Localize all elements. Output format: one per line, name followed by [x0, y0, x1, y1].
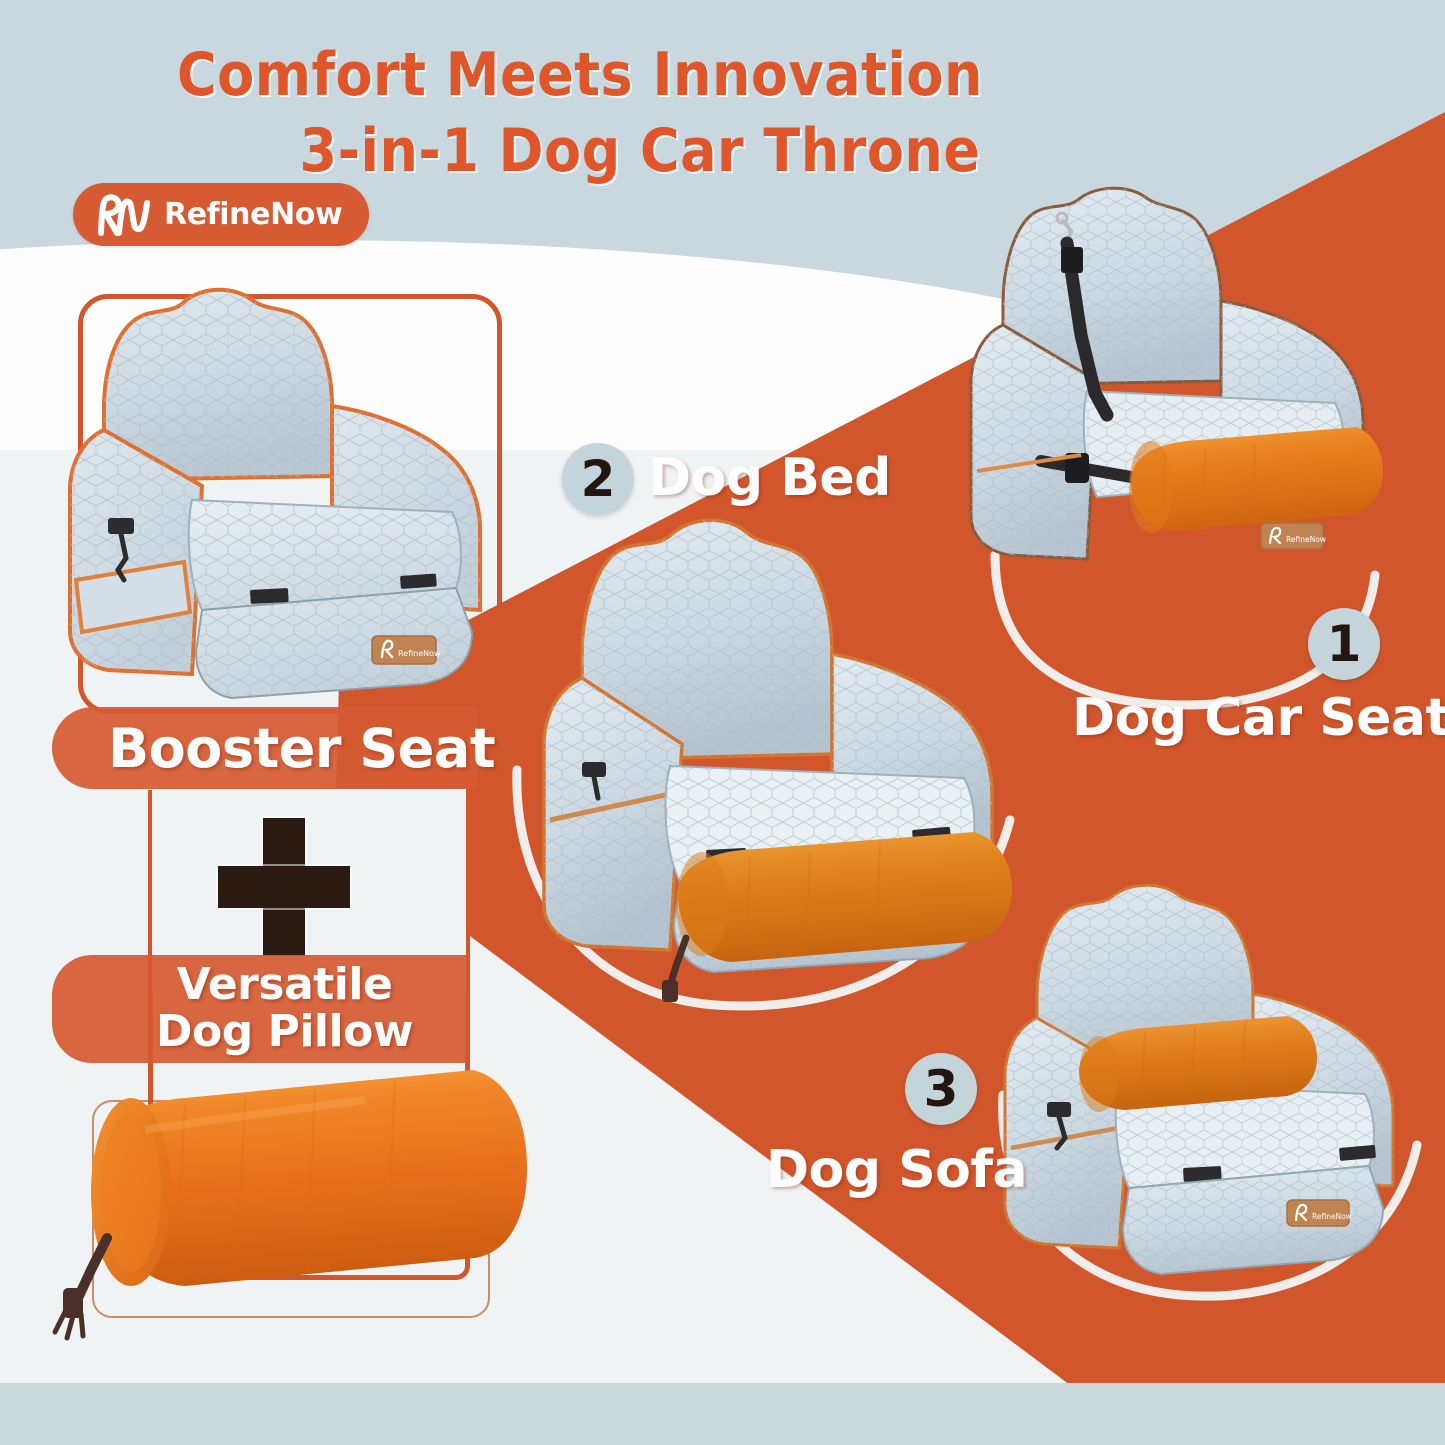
svg-text:RefineNow: RefineNow [1286, 535, 1326, 544]
versatile-dog-pillow-product-photo [35, 1060, 535, 1360]
step-label-dog-bed: Dog Bed [648, 448, 891, 508]
versatile-dog-pillow-banner: Versatile Dog Pillow [52, 955, 467, 1063]
svg-text:RefineNow: RefineNow [398, 649, 441, 658]
step-badge-2: 2 [562, 443, 634, 515]
rn-monogram-icon [95, 193, 161, 237]
step-badge-3: 3 [905, 1053, 977, 1125]
pillow-label-line-2: Dog Pillow [156, 1009, 413, 1056]
background-bottom-strip [0, 1383, 1445, 1445]
booster-seat-product-photo: RefineNow [52, 280, 512, 720]
dog-sofa-product-photo: RefineNow [995, 880, 1425, 1300]
svg-text:RefineNow: RefineNow [1312, 1212, 1352, 1221]
dog-bed-product-photo [520, 518, 1050, 1018]
infographic-canvas: Comfort Meets Innovation 3-in-1 Dog Car … [0, 0, 1445, 1445]
page-title: Comfort Meets Innovation 3-in-1 Dog Car … [0, 38, 1160, 189]
plus-icon [218, 818, 350, 956]
brand-name: RefineNow [164, 197, 342, 232]
title-line-2: 3-in-1 Dog Car Throne [0, 114, 1160, 190]
step-label-dog-car-seat: Dog Car Seat [1072, 688, 1445, 748]
step-label-dog-sofa: Dog Sofa [766, 1140, 1027, 1200]
pillow-label-line-1: Versatile [177, 962, 393, 1009]
step-badge-1: 1 [1308, 608, 1380, 680]
title-line-1: Comfort Meets Innovation [0, 38, 1160, 114]
booster-seat-banner: Booster Seat [52, 707, 477, 789]
booster-seat-label: Booster Seat [108, 717, 495, 780]
brand-logo: RefineNow [73, 183, 369, 246]
